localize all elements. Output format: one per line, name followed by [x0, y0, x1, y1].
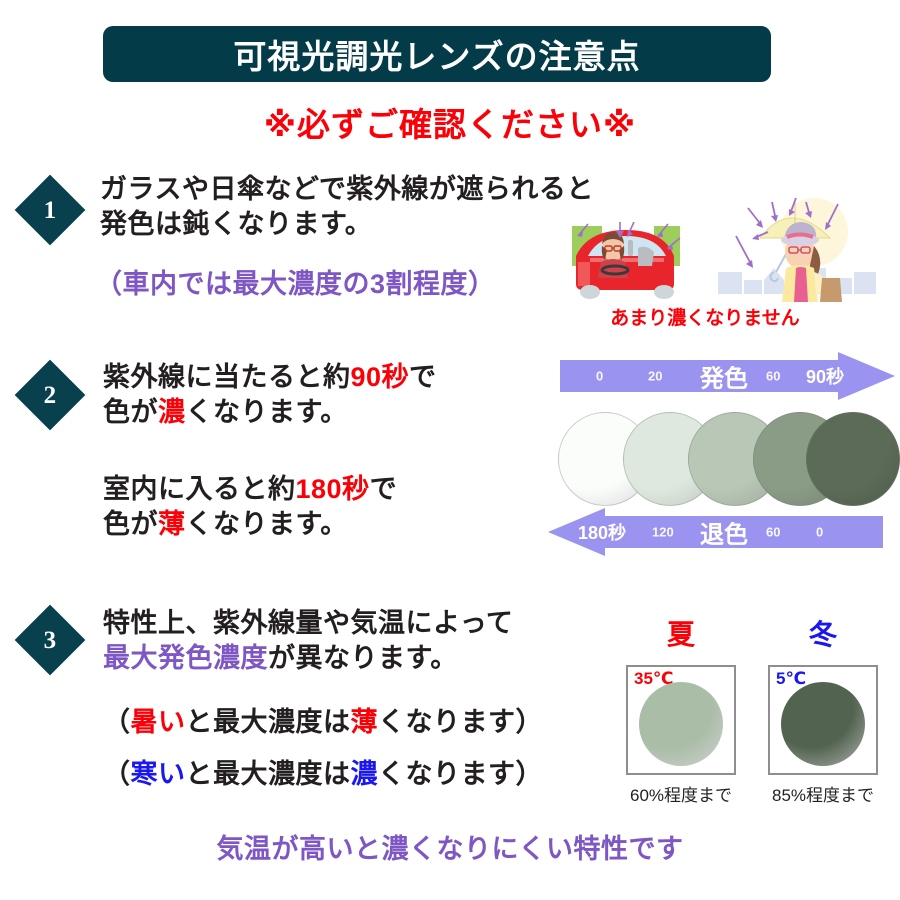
- note1-light: 薄: [351, 707, 379, 737]
- section2-para1-line2: 色が濃くなります。: [103, 395, 348, 430]
- fading-tick-60: 60: [766, 525, 780, 540]
- section2-para1-line1: 紫外線に当たると約90秒で: [103, 360, 437, 395]
- section-badge-3: 3: [15, 605, 86, 676]
- s2-p1-duration: 90秒: [351, 362, 410, 392]
- note1-open: （: [103, 707, 131, 737]
- note2-open: （: [103, 759, 131, 789]
- s2-p1-d: 色が: [103, 397, 158, 427]
- section1-line1: ガラスや日傘などで紫外線が遮られると: [100, 172, 594, 207]
- section1-note: （車内では最大濃度の3割程度）: [95, 262, 496, 301]
- section3-line2: 最大発色濃度が異なります。: [103, 641, 458, 676]
- subtitle-warning: ※必ずご確認ください※: [0, 98, 900, 146]
- s2-p1-f: くなります。: [186, 397, 348, 427]
- section3-line1: 特性上、紫外線量や気温によって: [103, 606, 513, 641]
- note1-mid: と最大濃度は: [186, 707, 351, 737]
- section-number-3: 3: [44, 628, 57, 653]
- section-badge-2: 2: [15, 360, 86, 431]
- note2-cold: 寒い: [131, 759, 186, 789]
- header-bar: 可視光調光レンズの注意点: [103, 26, 771, 82]
- fading-tick-180: 180秒: [578, 519, 626, 545]
- section3-note-hot: （暑いと最大濃度は薄くなります）: [103, 705, 543, 740]
- section-number-2: 2: [44, 383, 57, 408]
- summer-caption: 60%程度まで: [614, 781, 748, 806]
- page-title: 可視光調光レンズの注意点: [233, 30, 640, 78]
- section3-line2-tail: が異なります。: [268, 643, 458, 673]
- section3-note-cold: （寒いと最大濃度は濃くなります）: [103, 757, 543, 792]
- illustration-woman-driving-car: [568, 222, 683, 300]
- lens-stage-5: [806, 412, 900, 506]
- note2-dark: 濃: [351, 759, 379, 789]
- darkening-label: 発色: [700, 359, 748, 394]
- s2-p2-f: くなります。: [186, 509, 348, 539]
- s2-p1-emphasis: 濃: [158, 397, 186, 427]
- section2-para2-line1: 室内に入ると約180秒で: [103, 472, 397, 507]
- note1-tail: くなります）: [378, 707, 543, 737]
- s2-p2-duration: 180秒: [296, 474, 370, 504]
- winter-box: 5℃: [768, 665, 878, 775]
- s2-p2-emphasis: 薄: [158, 509, 186, 539]
- fading-label: 退色: [700, 515, 748, 550]
- winter-temperature: 5℃: [776, 669, 806, 689]
- darkening-tick-90: 90秒: [806, 363, 844, 389]
- fading-arrow: 180秒 120 退色 60 0: [548, 508, 883, 556]
- illustration-woman-with-parasol: [718, 180, 878, 302]
- s2-p1-a: 紫外線に当たると約: [103, 362, 351, 392]
- winter-title: 冬: [768, 613, 878, 653]
- darkening-tick-20: 20: [648, 369, 662, 384]
- winter-caption: 85%程度まで: [756, 781, 890, 806]
- section1-illustration-caption: あまり濃くなりません: [590, 303, 820, 330]
- section3-emphasis: 最大発色濃度: [103, 643, 268, 673]
- s2-p2-a: 室内に入ると約: [103, 474, 296, 504]
- winter-lens-circle: [781, 682, 865, 766]
- note2-mid: と最大濃度は: [186, 759, 351, 789]
- darkening-tick-0: 0: [596, 369, 603, 384]
- section-number-1: 1: [44, 198, 57, 223]
- s2-p1-c: で: [409, 362, 437, 392]
- note1-hot: 暑い: [131, 707, 186, 737]
- fading-tick-0: 0: [816, 525, 823, 540]
- s2-p2-c: で: [370, 474, 398, 504]
- s2-p2-d: 色が: [103, 509, 158, 539]
- summer-box: 35℃: [626, 665, 736, 775]
- darkening-tick-60: 60: [766, 369, 780, 384]
- section-badge-1: 1: [15, 175, 86, 246]
- summer-lens-circle: [639, 682, 723, 766]
- bottom-tagline: 気温が高いと濃くなりにくい特性です: [0, 827, 900, 866]
- season-winter: 冬 5℃ 85%程度まで: [768, 665, 878, 775]
- darkening-arrow: 0 20 発色 60 90秒: [560, 352, 895, 400]
- note2-tail: くなります）: [378, 759, 543, 789]
- lens-progression: [558, 412, 898, 504]
- fading-tick-120: 120: [652, 525, 674, 540]
- infographic-page: 可視光調光レンズの注意点 ※必ずご確認ください※ 1 ガラスや日傘などで紫外線が…: [0, 0, 900, 900]
- section1-line2: 発色は鈍くなります。: [100, 207, 372, 242]
- season-summer: 夏 35℃ 60%程度まで: [626, 665, 736, 775]
- summer-title: 夏: [626, 613, 736, 653]
- section2-para2-line2: 色が薄くなります。: [103, 507, 348, 542]
